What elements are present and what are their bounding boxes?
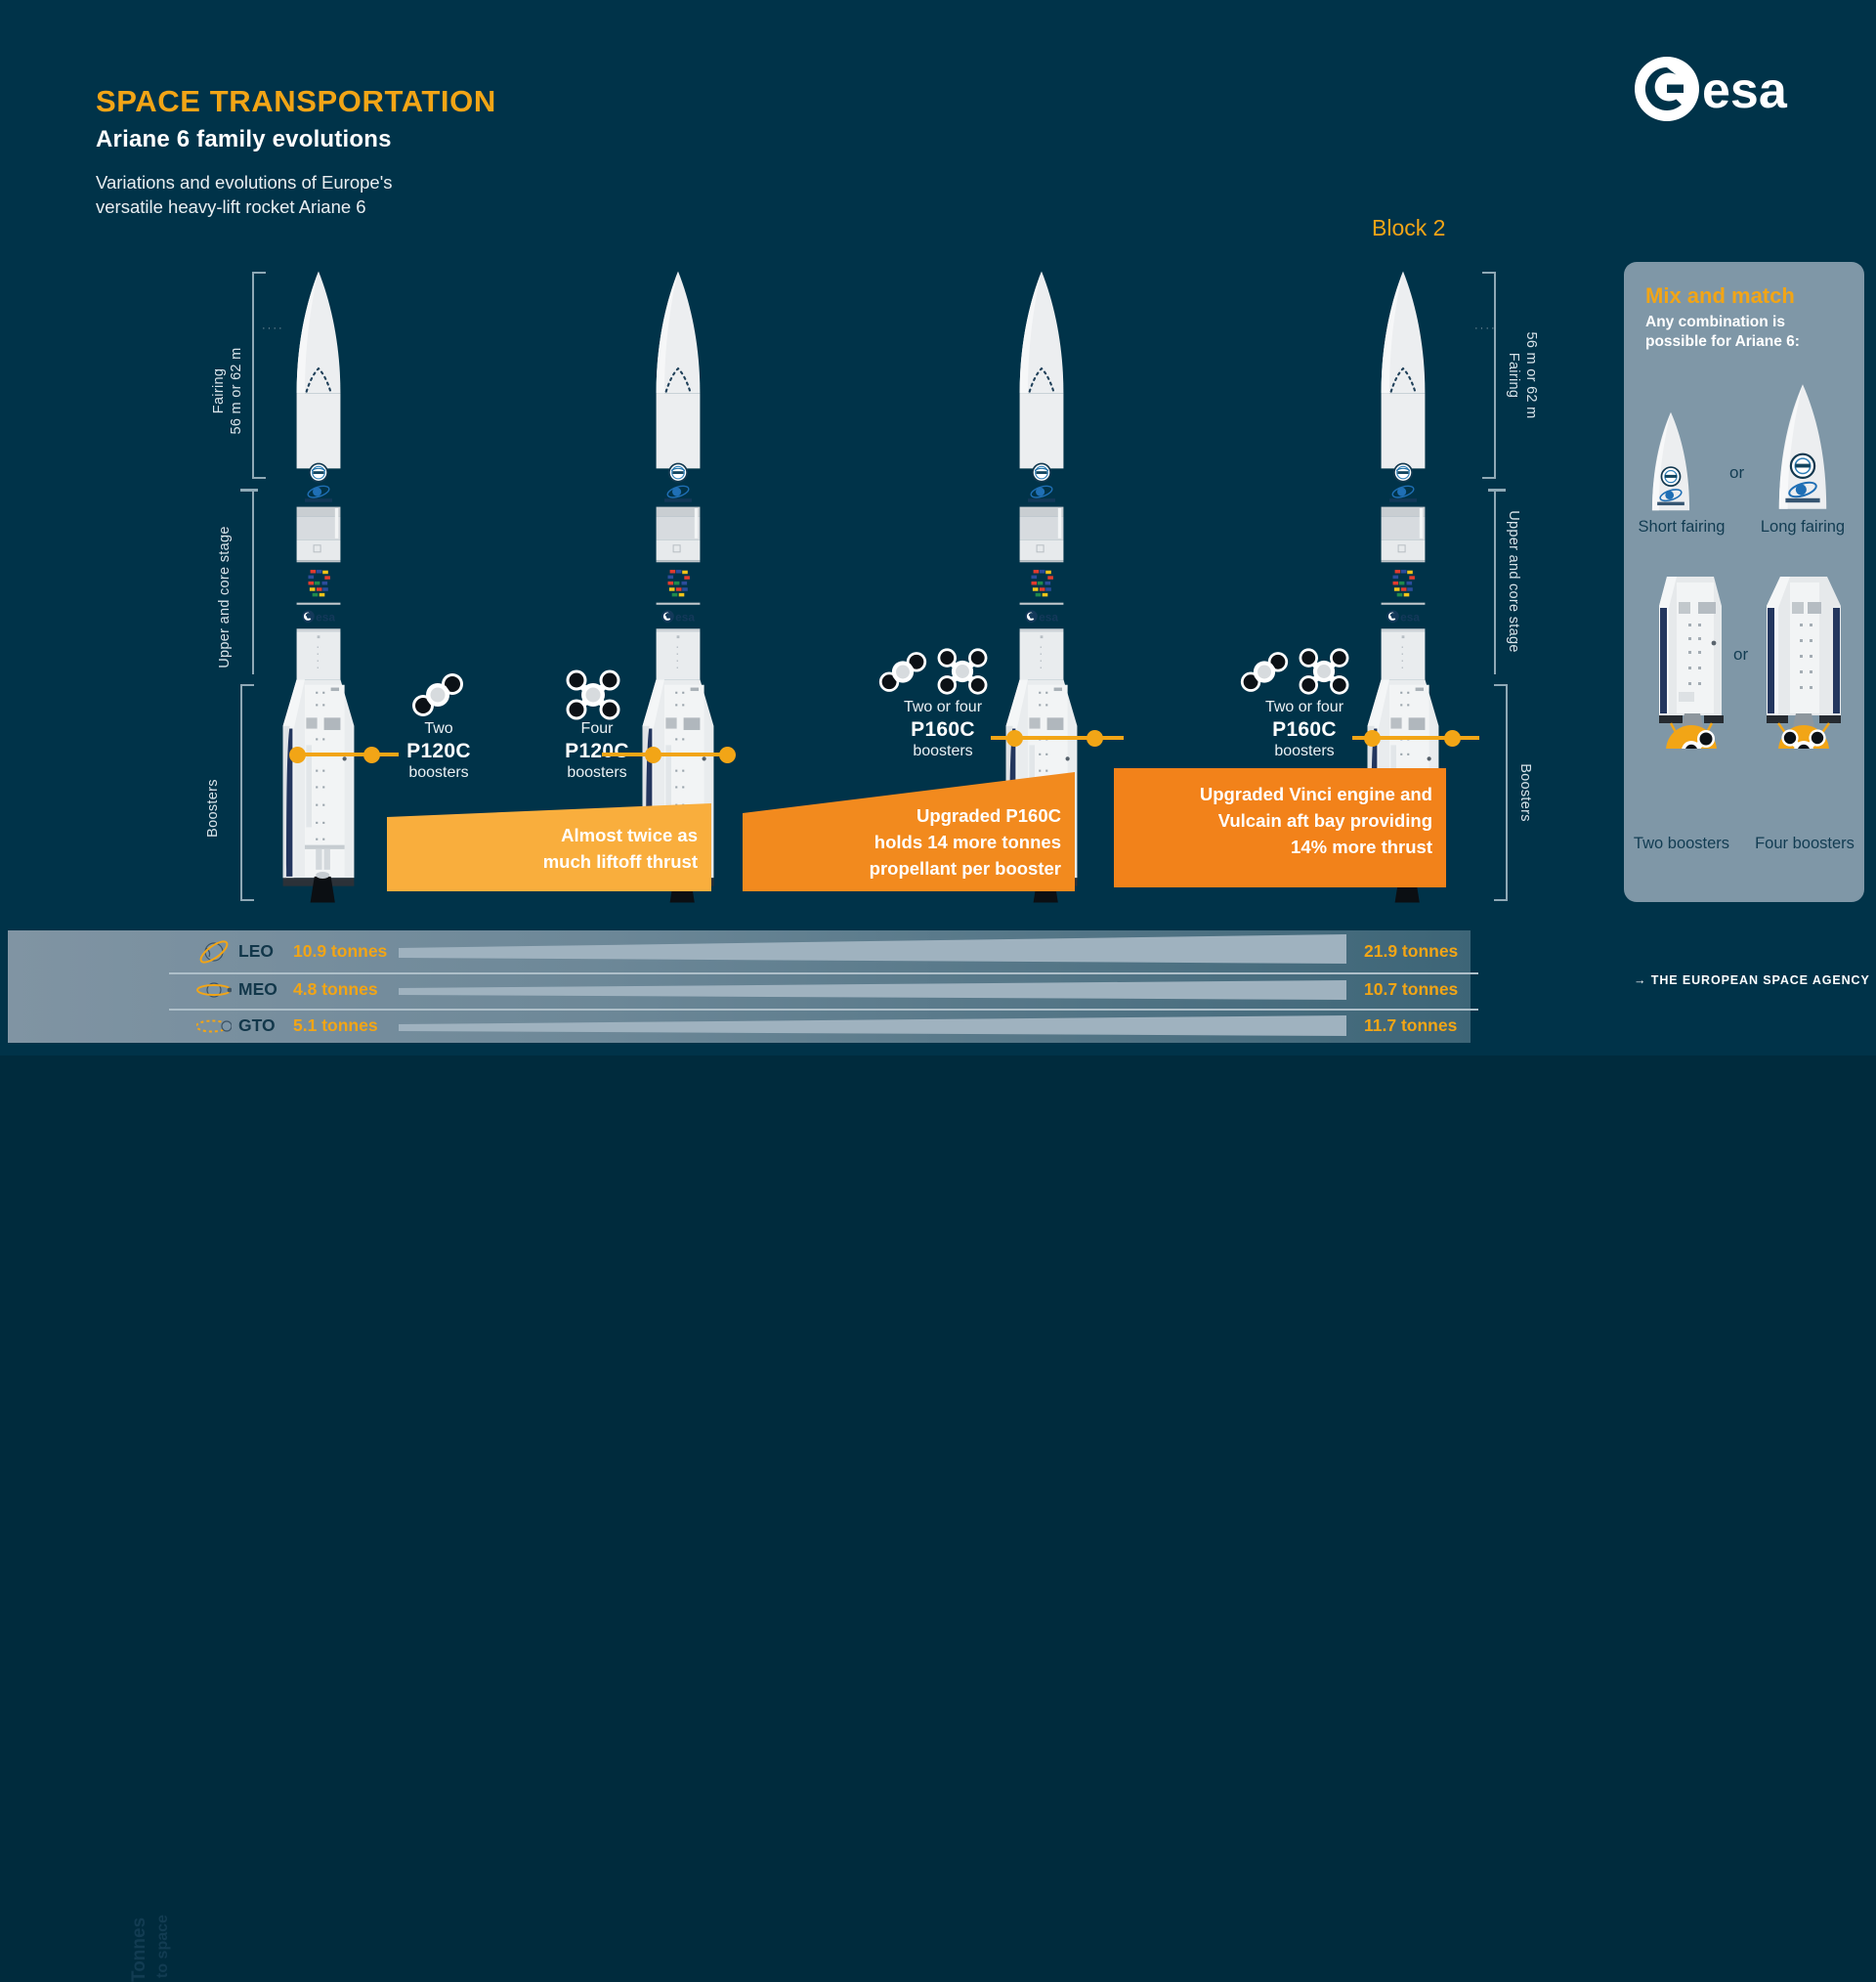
banner-3-line1: Upgraded Vinci engine and — [1200, 782, 1432, 808]
fairing-or-label: or — [1729, 463, 1744, 483]
four-boosters-nozzle-icon-2 — [565, 668, 621, 726]
rocket-3-leader-dot-left — [1006, 730, 1023, 747]
rocket-4-leader-dot-right — [1444, 730, 1461, 747]
banner-2-line1: Upgraded P160C — [870, 803, 1061, 830]
boosters-or-label: or — [1733, 645, 1748, 665]
rocket-1-leader-line — [301, 753, 399, 756]
page-eyebrow: SPACE TRANSPORTATION — [96, 86, 496, 118]
banner-1: Almost twice as much liftoff thrust — [387, 803, 711, 891]
short-fairing-graphic[interactable] — [1641, 410, 1700, 517]
gto-label: GTO — [238, 1015, 276, 1036]
two-boosters-nozzle-icon-1 — [410, 670, 465, 724]
rocket-2-callout-name: P120C — [539, 739, 655, 764]
gto-value-left: 5.1 tonnes — [293, 1015, 378, 1036]
ruler-right-fairing-line1: Fairing — [1506, 353, 1521, 398]
leo-orbit-icon — [196, 937, 232, 967]
leo-value-right: 21.9 tonnes — [1364, 941, 1458, 962]
page-title: Ariane 6 family evolutions — [96, 126, 496, 153]
four-boosters-caption: Four boosters — [1743, 835, 1866, 853]
esa-wordmark: esa — [1702, 63, 1788, 119]
rocket-3-callout-post: boosters — [860, 742, 1026, 761]
ruler-right-fairing-meters: 56 m or 62 m — [1523, 272, 1539, 479]
gto-orbit-icon — [196, 1012, 232, 1041]
banner-3: Upgraded Vinci engine and Vulcain aft ba… — [1114, 768, 1446, 887]
ruler-right-core-label: Upper and core stage — [1506, 510, 1521, 652]
banner-2-line3: propellant per booster — [870, 856, 1061, 883]
four-boosters-nozzle-icon-3 — [936, 647, 989, 701]
tonnes-to-space-chart: Tonnes to space LEO 10.9 tonnes 21.9 ton… — [8, 930, 1471, 1043]
meo-value-left: 4.8 tonnes — [293, 979, 378, 1000]
ruler-right-tick-dots: ···· — [1474, 323, 1497, 334]
rocket-1[interactable] — [266, 266, 371, 906]
ruler-left-core-label: Upper and core stage — [217, 526, 233, 668]
chart-title-line2: to space — [154, 1915, 172, 1978]
agency-arrow-icon: → — [1634, 973, 1646, 987]
ruler-right-core: Upper and core stage — [1506, 489, 1521, 674]
rocket-3-callout-pre: Two or four — [860, 698, 1026, 717]
rocket-2-leader-line — [602, 753, 729, 756]
block-2-label: Block 2 — [1372, 215, 1445, 241]
infographic-root: SPACE TRANSPORTATION Ariane 6 family evo… — [0, 0, 1876, 1056]
banner-3-text: Upgraded Vinci engine and Vulcain aft ba… — [1200, 782, 1432, 860]
leo-bar — [399, 934, 1346, 970]
long-fairing-caption: Long fairing — [1745, 518, 1860, 537]
ruler-left-fairing: Fairing — [211, 287, 227, 495]
panel-subtitle-line2: possible for Ariane 6: — [1645, 332, 1800, 352]
two-boosters-caption: Two boosters — [1622, 835, 1741, 853]
chart-row-meo: MEO 4.8 tonnes 10.7 tonnes — [8, 972, 1471, 1009]
banner-2: Upgraded P160C holds 14 more tonnes prop… — [743, 772, 1075, 891]
chart-title: Tonnes to space — [133, 1867, 178, 1968]
ruler-right-boosters: Boosters — [1517, 684, 1533, 901]
rocket-2-leader-dot-right — [719, 747, 736, 763]
esa-logo-icon: esa — [1632, 54, 1822, 124]
rocket-3-callout: Two or four P160C boosters — [860, 698, 1026, 761]
agency-label: THE EUROPEAN SPACE AGENCY — [1651, 973, 1870, 987]
header: SPACE TRANSPORTATION Ariane 6 family evo… — [96, 86, 496, 219]
chart-row-gto: GTO 5.1 tonnes 11.7 tonnes — [8, 1009, 1471, 1045]
page-subtitle-line2: versatile heavy-lift rocket Ariane 6 — [96, 195, 496, 220]
four-boosters-nozzle-icon-4 — [1298, 647, 1350, 701]
ruler-right-fairing-line2: 56 m or 62 m — [1523, 331, 1539, 418]
gto-bar — [399, 1009, 1346, 1045]
panel-title: Mix and match — [1645, 283, 1795, 309]
rocket-1-callout-pre: Two — [381, 719, 496, 739]
leo-label: LEO — [238, 941, 274, 962]
panel-subtitle: Any combination is possible for Ariane 6… — [1645, 313, 1800, 353]
mix-and-match-panel: Mix and match Any combination is possibl… — [1624, 262, 1864, 902]
rocket-2-callout-pre: Four — [539, 719, 655, 739]
meo-label: MEO — [238, 979, 277, 1000]
banner-2-text: Upgraded P160C holds 14 more tonnes prop… — [870, 803, 1061, 882]
ruler-left-core: Upper and core stage — [217, 504, 233, 690]
rocket-1-callout: Two P120C boosters — [381, 719, 496, 783]
page-subtitle: Variations and evolutions of Europe's ve… — [96, 171, 496, 220]
chart-title-line1: Tonnes — [129, 1917, 150, 1982]
agency-footer: → THE EUROPEAN SPACE AGENCY — [1634, 973, 1870, 987]
four-boosters-graphic[interactable] — [1757, 573, 1851, 754]
ruler-left-fairing-line1: Fairing — [211, 368, 227, 413]
rocket-1-callout-name: P120C — [381, 739, 496, 764]
banner-1-line2: much liftoff thrust — [543, 849, 698, 876]
ruler-right-boosters-label: Boosters — [1517, 763, 1533, 822]
ruler-left-fairing-line2: 56 m or 62 m — [229, 347, 244, 434]
short-fairing-caption: Short fairing — [1624, 518, 1739, 537]
ruler-left-fairing-meters: 56 m or 62 m — [229, 287, 244, 495]
rocket-2-callout: Four P120C boosters — [539, 719, 655, 783]
two-boosters-nozzle-icon-4 — [1239, 649, 1290, 700]
banner-3-line2: Vulcain aft bay providing — [1200, 808, 1432, 835]
rocket-4-callout-post: boosters — [1221, 742, 1387, 761]
ruler-left-boosters-label: Boosters — [205, 779, 221, 838]
banner-1-line1: Almost twice as — [543, 823, 698, 849]
esa-logo: esa — [1632, 54, 1822, 124]
rocket-2-leader-dot-left — [645, 747, 661, 763]
rocket-3-leader-dot-right — [1087, 730, 1103, 747]
two-boosters-nozzle-icon-3 — [877, 649, 928, 700]
page-subtitle-line1: Variations and evolutions of Europe's — [96, 171, 496, 195]
rocket-1-callout-post: boosters — [381, 763, 496, 783]
ruler-right-fairing: Fairing — [1506, 272, 1521, 479]
rocket-1-leader-dot-right — [363, 747, 380, 763]
gto-value-right: 11.7 tonnes — [1364, 1015, 1457, 1036]
banner-3-line3: 14% more thrust — [1200, 835, 1432, 861]
banner-1-text: Almost twice as much liftoff thrust — [543, 823, 698, 876]
banner-2-line2: holds 14 more tonnes — [870, 830, 1061, 856]
rocket-1-leader-dot-left — [289, 747, 306, 763]
meo-orbit-icon — [196, 975, 232, 1005]
rocket-4-callout-pre: Two or four — [1221, 698, 1387, 717]
ruler-left-boosters: Boosters — [205, 700, 221, 917]
chart-row-leo: LEO 10.9 tonnes 21.9 tonnes — [8, 934, 1471, 970]
meo-value-right: 10.7 tonnes — [1364, 979, 1458, 1000]
rocket-2-callout-post: boosters — [539, 763, 655, 783]
rocket-4-callout: Two or four P160C boosters — [1221, 698, 1387, 761]
rocket-4-leader-dot-left — [1364, 730, 1381, 747]
leo-value-left: 10.9 tonnes — [293, 941, 387, 962]
panel-subtitle-line1: Any combination is — [1645, 313, 1800, 332]
long-fairing-graphic[interactable] — [1770, 381, 1835, 517]
two-boosters-graphic[interactable] — [1643, 573, 1737, 754]
meo-bar — [399, 972, 1346, 1009]
